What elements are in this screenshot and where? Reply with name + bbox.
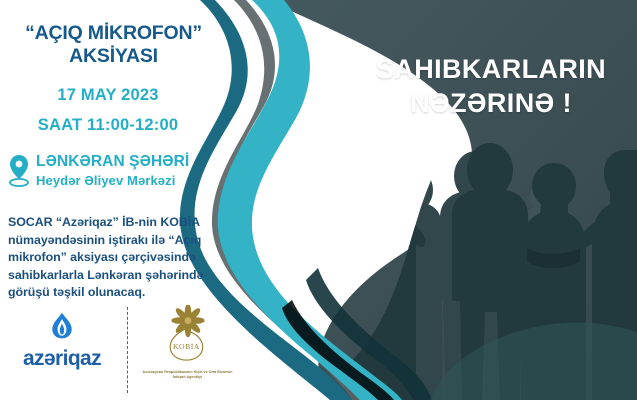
datetime-block: 17 MAY 2023 SAAT 11:00-12:00 [6,87,210,133]
event-time: SAAT 11:00-12:00 [6,117,210,134]
poster-canvas: “AÇIQ MİKROFON” AKSİYASI 17 MAY 2023 SAA… [0,0,637,400]
venue-block: LƏNKƏRAN ŞƏHƏRİ Heydər Əliyev Mərkəzi [8,152,228,189]
venue-text-group: LƏNKƏRAN ŞƏHƏRİ Heydər Əliyev Mərkəzi [36,152,189,189]
map-pin-icon [8,154,30,188]
kobia-flower-icon: KOBİA [157,351,219,368]
kobia-logo: KOBİA Azərbaycan Respublikasının Kiçik v… [140,305,235,381]
venue-place: Heydər Əliyev Mərkəzi [36,173,189,189]
azeriqaz-logo: azəriqaz [14,311,110,369]
venue-city: LƏNKƏRAN ŞƏHƏRİ [36,153,189,170]
event-date: 17 MAY 2023 [6,87,210,104]
headline-line-2: NƏZƏRINƏ ! [352,86,630,120]
event-title: “AÇIQ MİKROFON” AKSİYASI [6,22,221,68]
azeriqaz-wordmark: azəriqaz [14,348,110,369]
logo-row: azəriqaz [10,305,235,397]
left-content-column: “AÇIQ MİKROFON” AKSİYASI 17 MAY 2023 SAA… [0,0,240,400]
logo-divider [127,307,128,393]
announcement-body-text: SOCAR “Azəriqaz” İB-nin KOBİA nümayəndəs… [8,214,235,302]
headline-line-1: SAHIBKARLARIN [352,52,630,86]
svg-text:KOBİA: KOBİA [173,342,200,351]
right-headline: SAHIBKARLARIN NƏZƏRINƏ ! [352,52,630,120]
kobia-subtitle: Azərbaycan Respublikasının Kiçik və Orta… [140,370,235,381]
gas-flame-icon [47,328,77,345]
